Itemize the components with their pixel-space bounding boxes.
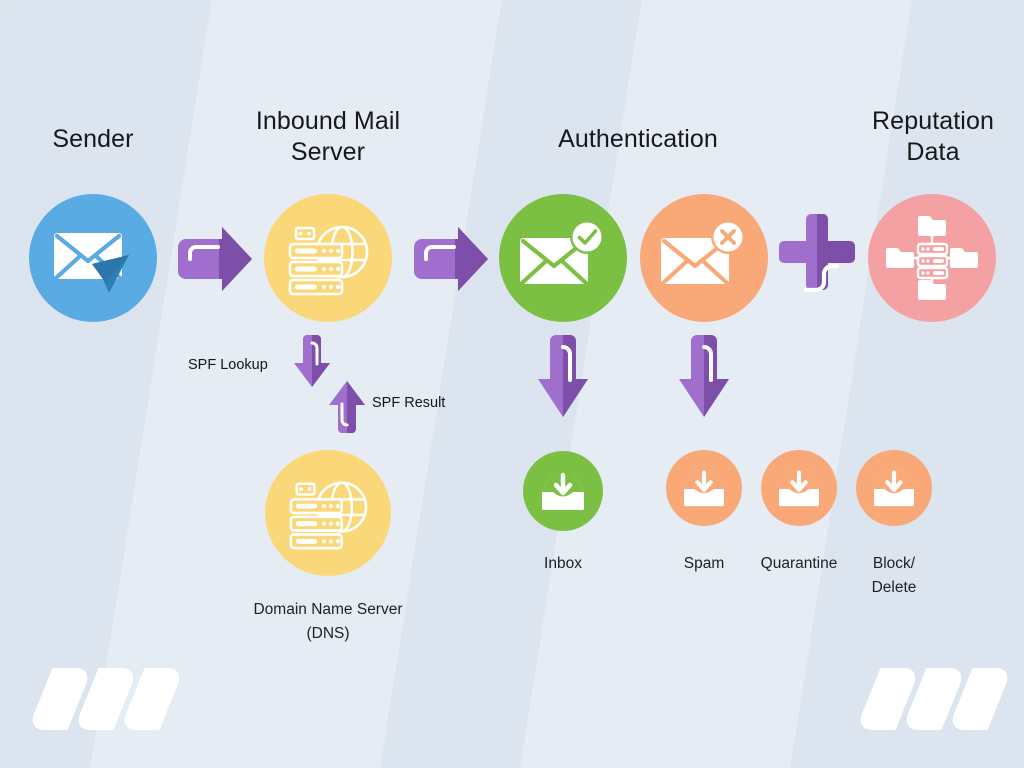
quarantine-label-text: Quarantine bbox=[761, 555, 838, 572]
spf-result-text: SPF Result bbox=[372, 395, 445, 411]
connector-sender-to-server bbox=[172, 225, 256, 297]
dns-caption-line2: (DNS) bbox=[208, 622, 448, 646]
node-sender[interactable] bbox=[29, 194, 157, 322]
spf-result-label: SPF Result bbox=[372, 395, 445, 411]
destination-block-delete[interactable] bbox=[856, 450, 932, 526]
down-arrow-icon bbox=[675, 334, 733, 420]
page-title-sender: Sender bbox=[13, 124, 173, 155]
down-arrow-icon bbox=[534, 334, 592, 420]
decoration-bottom-right bbox=[868, 668, 1008, 730]
right-arrow-icon bbox=[172, 225, 256, 297]
server-globe-icon bbox=[282, 218, 374, 298]
connector-auth-pass-to-inbox bbox=[534, 334, 592, 420]
node-inbound-mail-server[interactable] bbox=[264, 194, 392, 322]
page-title-inbound-mail-server: Inbound Mail Server bbox=[228, 106, 428, 167]
spf-lookup-text: SPF Lookup bbox=[188, 357, 268, 373]
inbound-heading-line2: Server bbox=[228, 137, 428, 168]
envelope-send-icon bbox=[51, 221, 135, 295]
spf-lookup-label: SPF Lookup bbox=[188, 357, 268, 373]
inbox-tray-download-icon bbox=[682, 468, 726, 508]
decoration-bottom-left bbox=[40, 668, 180, 730]
node-reputation-data[interactable] bbox=[868, 194, 996, 322]
page-title-authentication: Authentication bbox=[518, 124, 758, 155]
up-arrow-icon bbox=[326, 378, 368, 434]
block-delete-label-line1: Block/ bbox=[844, 552, 944, 576]
spam-label-text: Spam bbox=[684, 555, 725, 572]
destination-quarantine-label: Quarantine bbox=[739, 552, 859, 576]
connector-plus bbox=[778, 213, 856, 305]
destination-block-delete-label: Block/ Delete bbox=[844, 552, 944, 600]
background-stripe-1 bbox=[0, 0, 224, 768]
envelope-check-icon bbox=[518, 220, 608, 296]
destination-inbox-label: Inbox bbox=[503, 552, 623, 576]
reputation-heading-line1: Reputation bbox=[842, 106, 1024, 137]
node-authentication-fail[interactable] bbox=[640, 194, 768, 322]
server-network-folders-icon bbox=[884, 212, 980, 304]
envelope-x-icon bbox=[659, 220, 749, 296]
destination-inbox[interactable] bbox=[523, 451, 603, 531]
server-globe-icon bbox=[283, 474, 373, 552]
inbox-tray-download-icon bbox=[777, 468, 821, 508]
block-delete-label-line2: Delete bbox=[844, 576, 944, 600]
page-title-reputation-data: Reputation Data bbox=[842, 106, 1024, 167]
inbox-tray-download-icon bbox=[540, 470, 586, 512]
connector-auth-fail-to-filters bbox=[675, 334, 733, 420]
inbox-label-text: Inbox bbox=[544, 555, 582, 572]
diagram-canvas: Sender Inbound Mail Server Authenticatio… bbox=[0, 0, 1024, 768]
inbound-heading-line1: Inbound Mail bbox=[228, 106, 428, 137]
dns-caption-line1: Domain Name Server bbox=[208, 598, 448, 622]
connector-spf-result bbox=[326, 378, 368, 434]
authentication-heading-text: Authentication bbox=[558, 125, 718, 153]
reputation-heading-line2: Data bbox=[842, 137, 1024, 168]
dns-caption: Domain Name Server (DNS) bbox=[208, 598, 448, 646]
destination-quarantine[interactable] bbox=[761, 450, 837, 526]
connector-server-to-authentication bbox=[408, 225, 492, 297]
inbox-tray-download-icon bbox=[872, 468, 916, 508]
destination-spam[interactable] bbox=[666, 450, 742, 526]
node-domain-name-server[interactable] bbox=[265, 450, 391, 576]
right-arrow-icon bbox=[408, 225, 492, 297]
plus-cross-icon bbox=[778, 213, 856, 305]
sender-heading-text: Sender bbox=[52, 125, 133, 153]
node-authentication-pass[interactable] bbox=[499, 194, 627, 322]
